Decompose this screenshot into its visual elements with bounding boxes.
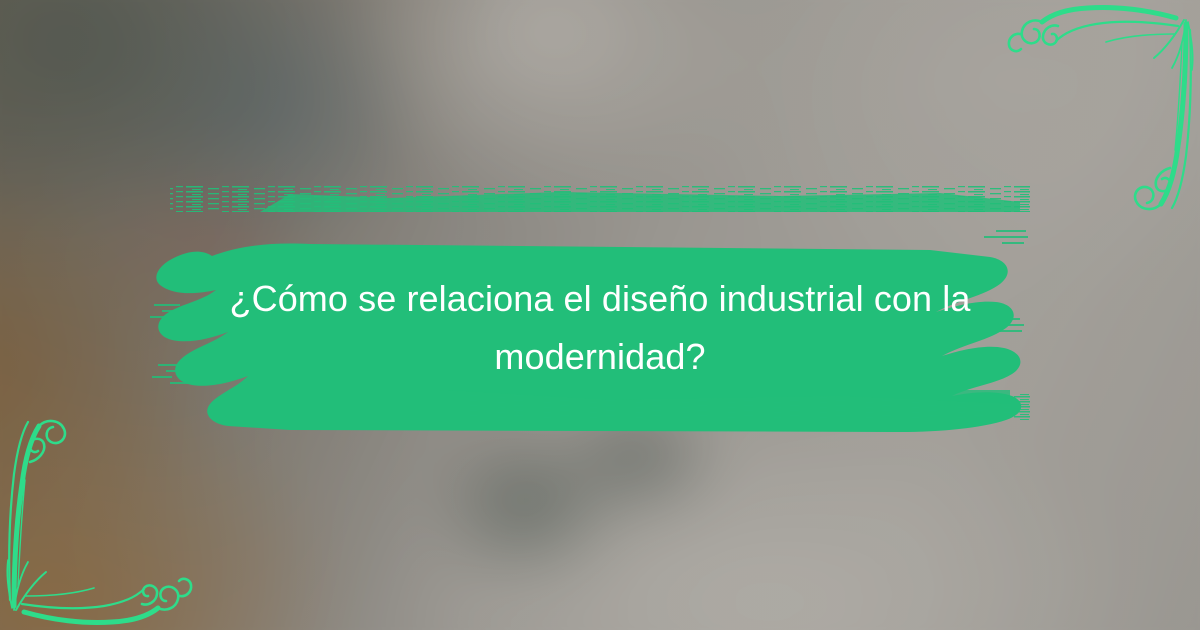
page-title: ¿Cómo se relaciona el diseño industrial … <box>180 270 1020 386</box>
corner-flourish-bottom-left-icon <box>0 415 220 630</box>
corner-flourish-top-right-icon <box>980 0 1200 215</box>
social-card: ¿Cómo se relaciona el diseño industrial … <box>0 0 1200 630</box>
